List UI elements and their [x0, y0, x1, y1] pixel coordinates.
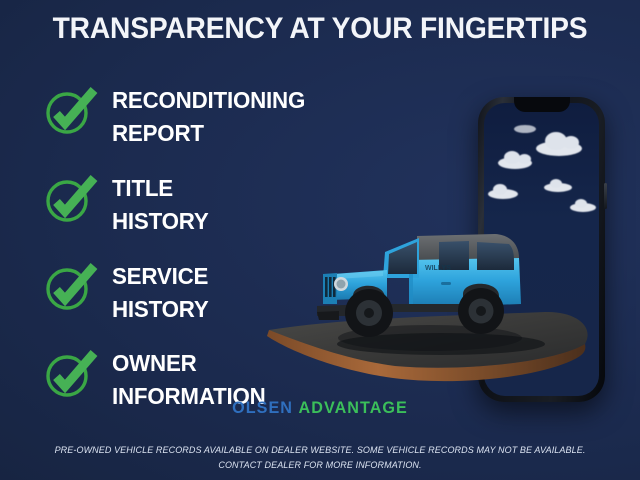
cloud-icon — [498, 157, 532, 169]
page-title: TRANSPARENCY AT YOUR FINGERTIPS — [19, 12, 621, 46]
list-item-line1: SERVICE — [112, 260, 209, 293]
brand-logo: OLSEN ADVANTAGE — [16, 398, 624, 418]
phone-power-button — [604, 183, 607, 209]
phone-notch — [514, 97, 570, 112]
check-circle-icon — [44, 86, 100, 138]
list-item-label: TITLE HISTORY — [112, 172, 209, 238]
cloud-icon — [570, 203, 596, 212]
list-item-line2: HISTORY — [112, 205, 209, 238]
disclaimer-text: PRE-OWNED VEHICLE RECORDS AVAILABLE ON D… — [0, 443, 640, 473]
list-item-line1: TITLE — [112, 172, 209, 205]
cloud-icon — [544, 183, 572, 192]
list-item-line2: HISTORY — [112, 293, 209, 326]
list-item-label: SERVICE HISTORY — [112, 260, 209, 326]
hero-scene: WILLYS — [255, 60, 640, 420]
brand-word-olsen: OLSEN — [232, 398, 293, 417]
promo-banner: TRANSPARENCY AT YOUR FINGERTIPS RECONDIT… — [0, 0, 640, 480]
list-item-line1: OWNER — [112, 347, 266, 380]
check-circle-icon — [44, 174, 100, 226]
cloud-icon — [488, 189, 518, 199]
disclaimer-line1: PRE-OWNED VEHICLE RECORDS AVAILABLE ON D… — [0, 443, 640, 458]
check-circle-icon — [44, 262, 100, 314]
cloud-icon — [514, 125, 536, 133]
blue-jeep-wrangler: WILLYS — [313, 212, 563, 362]
check-circle-icon — [44, 349, 100, 401]
brand-word-advantage: ADVANTAGE — [299, 398, 408, 417]
svg-text:WILLYS: WILLYS — [425, 265, 451, 272]
cloud-icon — [536, 141, 582, 156]
disclaimer-line2: CONTACT DEALER FOR MORE INFORMATION. — [0, 458, 640, 473]
